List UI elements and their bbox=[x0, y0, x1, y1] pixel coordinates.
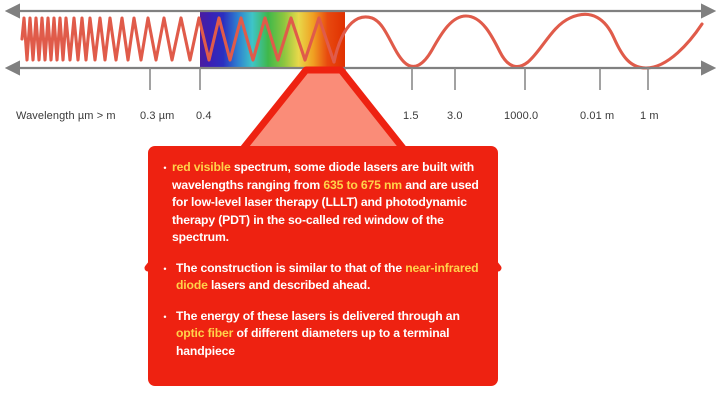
callout-text-box: •red visible spectrum, some diode lasers… bbox=[148, 146, 498, 386]
bullet-text: The construction is similar to that of t… bbox=[172, 260, 482, 295]
highlighted-text: optic fiber bbox=[176, 326, 233, 340]
axis-tick-label: 0.4 bbox=[196, 110, 212, 122]
axis-tick-label: 0.3 µm bbox=[140, 110, 174, 122]
highlighted-text: 635 to 675 nm bbox=[323, 178, 402, 192]
axis-tick-label: 3.0 bbox=[447, 110, 463, 122]
slide-canvas: Wavelength µm > m 0.3 µm0.40.71.53.01000… bbox=[0, 0, 721, 404]
axis-tick-label: 1 m bbox=[640, 110, 659, 122]
axis-tick-label: 1.5 bbox=[403, 110, 419, 122]
bullet-dot-icon: • bbox=[158, 159, 172, 177]
callout-bullet-list: •red visible spectrum, some diode lasers… bbox=[158, 159, 482, 360]
axis-tick-label: 1000.0 bbox=[504, 110, 538, 122]
bullet-text: red visible spectrum, some diode lasers … bbox=[172, 159, 482, 247]
bullet-text: The energy of these lasers is delivered … bbox=[172, 308, 482, 361]
body-text: lasers and described ahead. bbox=[208, 278, 370, 292]
bullet-dot-icon: • bbox=[158, 260, 172, 278]
highlighted-text: red visible bbox=[172, 160, 234, 174]
axis-tick-label: 0.7 bbox=[337, 110, 353, 122]
body-text: The construction is similar to that of t… bbox=[176, 261, 405, 275]
electromagnetic-wave-curve-smooth bbox=[334, 14, 702, 68]
bullet-construction: •The construction is similar to that of … bbox=[158, 260, 482, 295]
bullet-energy-delivery: •The energy of these lasers is delivered… bbox=[158, 308, 482, 361]
axis-title-wavelength: Wavelength µm > m bbox=[16, 110, 116, 122]
axis-tick-marks bbox=[150, 68, 648, 90]
bullet-red-visible-spectrum: •red visible spectrum, some diode lasers… bbox=[158, 159, 482, 247]
bullet-dot-icon: • bbox=[158, 308, 172, 326]
axis-tick-label: 0.01 m bbox=[580, 110, 614, 122]
body-text: The energy of these lasers is delivered … bbox=[176, 309, 460, 323]
